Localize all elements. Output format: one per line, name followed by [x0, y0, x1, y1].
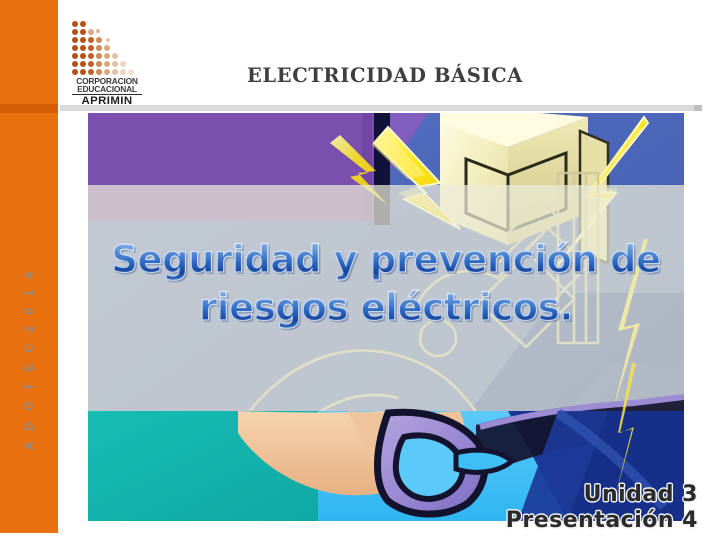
electrical-hazard-illustration	[88, 113, 684, 521]
logo-wordmark: CORPORACION EDUCACIONAL APRIMIN	[72, 77, 142, 108]
sidebar-vertical-label: A D O T E C 2 0 1 4	[16, 259, 44, 459]
sidebar-accent-band	[0, 104, 58, 113]
unit-label: Unidad 3	[506, 482, 698, 508]
aprimin-dot-triangle-logo-icon	[72, 21, 142, 77]
header-divider	[60, 105, 698, 111]
logo-line-2: EDUCACIONAL	[72, 85, 142, 95]
slide-canvas: A D O T E C 2 0 1 4	[0, 0, 720, 540]
slide-corner-labels: Unidad 3 Presentación 4	[506, 482, 698, 534]
header-divider-cap	[694, 105, 702, 111]
aprimin-logo: CORPORACION EDUCACIONAL APRIMIN	[72, 21, 142, 103]
illustration-svg	[88, 113, 684, 521]
presentation-label: Presentación 4	[506, 508, 698, 534]
page-title: ELECTRICIDAD BÁSICA	[150, 64, 620, 87]
sidebar-edge-line	[58, 0, 60, 533]
